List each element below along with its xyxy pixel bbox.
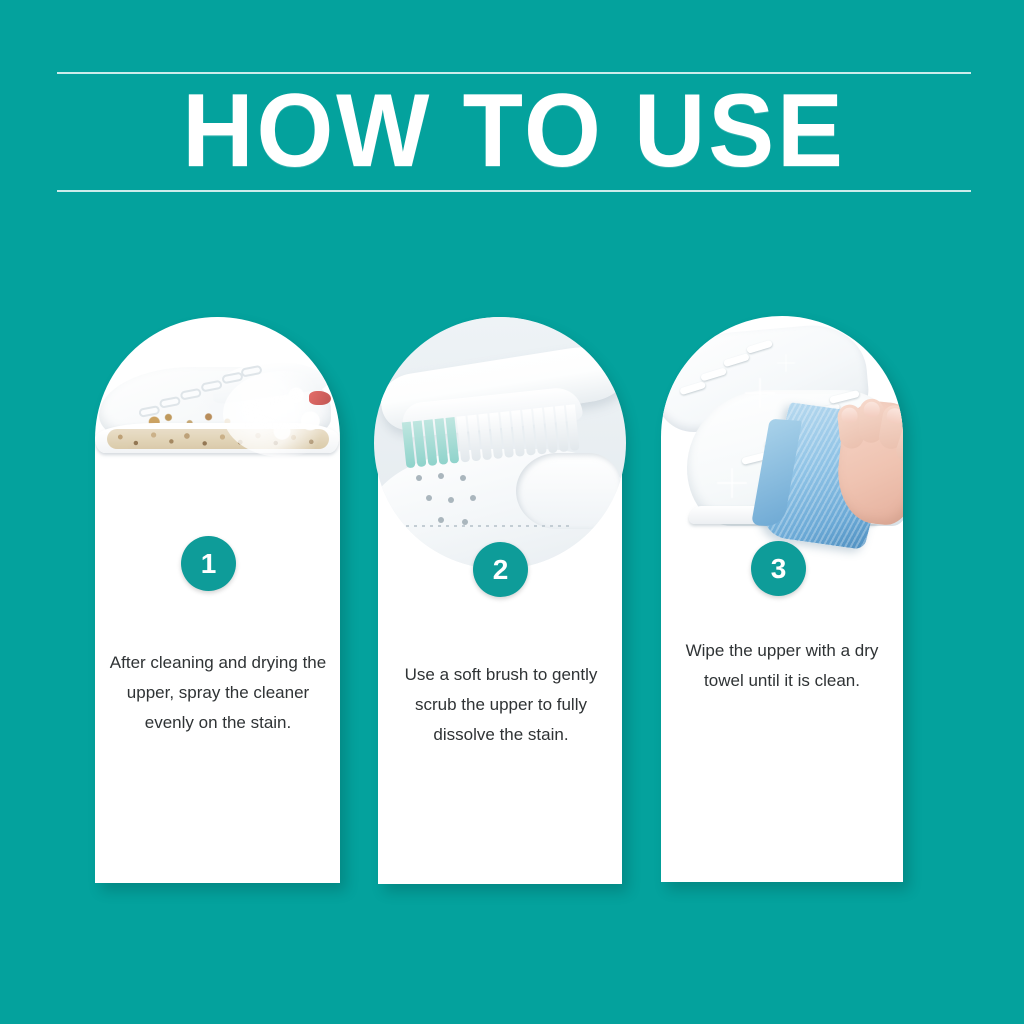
sparkle-icon xyxy=(717,468,747,498)
step-3-image xyxy=(661,316,903,576)
step-caption-1: After cleaning and drying the upper, spr… xyxy=(106,648,330,738)
steps-container: 1 2 3 After cleaning and drying the uppe… xyxy=(0,0,1024,1024)
step-2-image xyxy=(378,317,622,567)
spray-mist-icon xyxy=(223,371,340,457)
step-caption-3: Wipe the upper with a dry towel until it… xyxy=(673,636,891,696)
step-card-1 xyxy=(95,317,340,883)
step-card-3 xyxy=(661,316,903,882)
step-number-badge-2: 2 xyxy=(473,542,528,597)
step-number-badge-3: 3 xyxy=(751,541,806,596)
step-number-badge-1: 1 xyxy=(181,536,236,591)
step-1-image xyxy=(95,317,340,487)
step-card-2 xyxy=(378,317,622,884)
sparkle-icon xyxy=(745,378,775,408)
brush-scrub-illustration xyxy=(374,317,626,569)
sparkle-icon xyxy=(777,354,795,372)
dirty-sneaker-illustration xyxy=(95,363,340,483)
step-caption-2: Use a soft brush to gently scrub the upp… xyxy=(390,660,612,750)
